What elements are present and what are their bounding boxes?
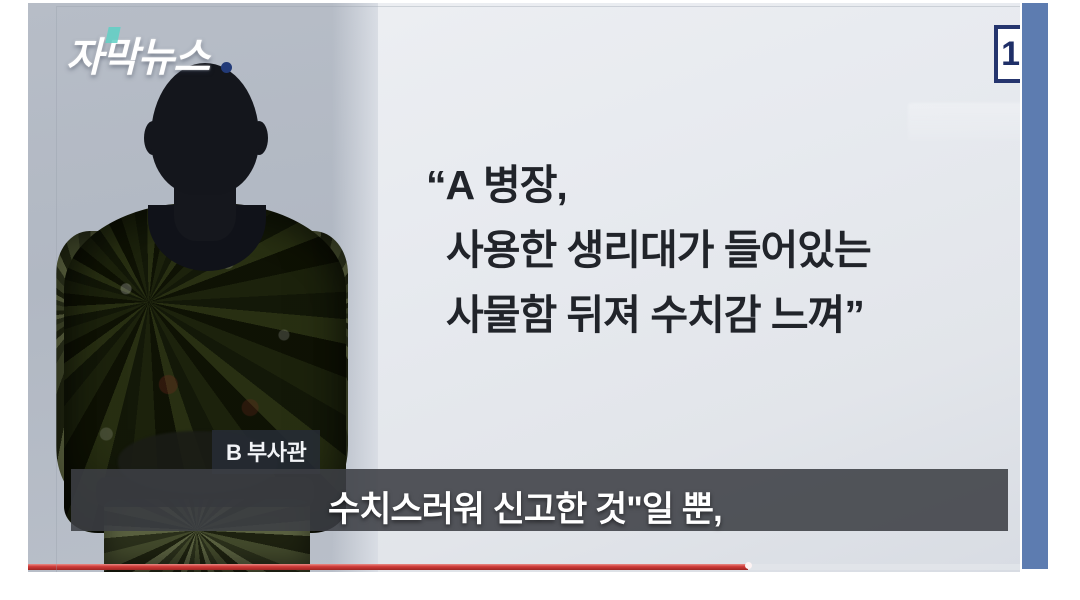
quote-line-1: “A 병장, [426,153,986,218]
logo-dot-icon [221,62,232,73]
speaker-name-tag: B 부사관 [212,430,320,474]
video-progress-fill [28,564,748,570]
right-side-accent-bar [1022,3,1048,569]
broadcaster-watermark [908,103,1020,141]
subtitle-caption: 수치스러워 신고한 것"일 뿐, [328,481,722,532]
quote-line-3: 사물함 뒤져 수치감 느껴” [426,283,986,348]
video-player-frame[interactable]: 자막뉴스 15 “A 병장, 사용한 생리대가 들어있는 사물함 뒤져 수치감 … [28,3,1020,572]
quote-block: “A 병장, 사용한 생리대가 들어있는 사물함 뒤져 수치감 느껴” [426,153,986,347]
page-number-badge: 15 [994,25,1020,83]
program-logo: 자막뉴스 [66,25,209,83]
quote-line-2: 사용한 생리대가 들어있는 [426,218,986,283]
screenshot-root: 자막뉴스 15 “A 병장, 사용한 생리대가 들어있는 사물함 뒤져 수치감 … [0,0,1080,600]
